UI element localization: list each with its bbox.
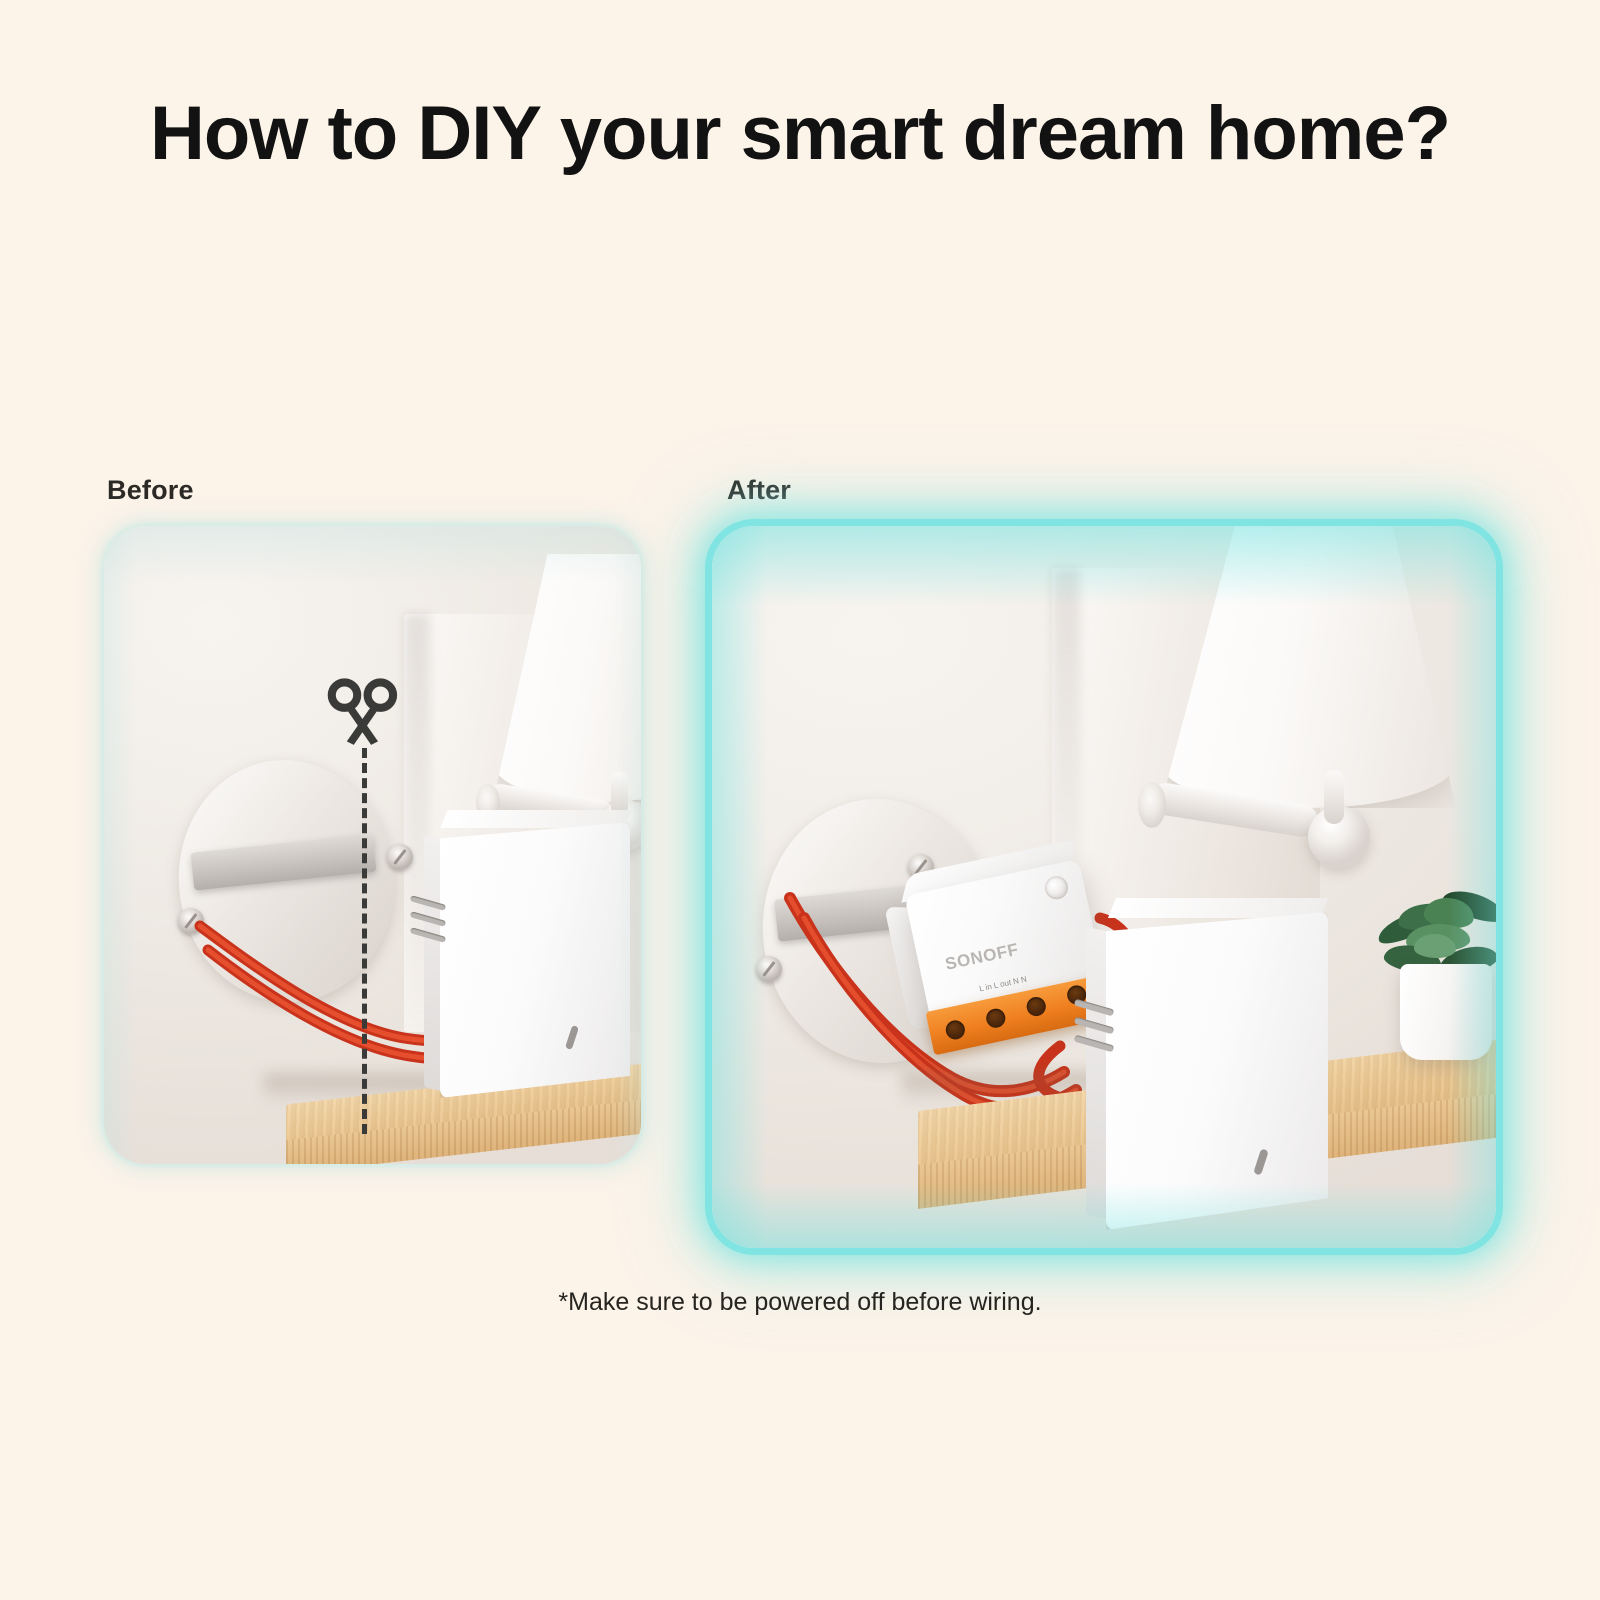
lamp-wall-mount: [1138, 782, 1166, 828]
switch-vent-group: [410, 900, 450, 954]
scissors-icon: [326, 672, 400, 746]
wall-box-screw-top: [387, 844, 413, 870]
terminal-hole: [1025, 995, 1048, 1018]
after-scene: SONOFF L in L out N N: [712, 526, 1496, 1248]
page-title: How to DIY your smart dream home?: [0, 96, 1600, 172]
switch-plate-face[interactable]: [440, 822, 630, 1098]
switch-vent-group: [1074, 1004, 1118, 1062]
footnote-warning: *Make sure to be powered off before wiri…: [0, 1288, 1600, 1317]
wall-box-screw-bottom: [756, 956, 782, 982]
cut-dashed-line: [362, 748, 367, 1134]
before-panel-image: [104, 526, 641, 1164]
switch-plate-face[interactable]: [1106, 912, 1328, 1230]
terminal-hole: [944, 1019, 967, 1042]
plant-pot: [1400, 964, 1492, 1060]
before-scene: [104, 526, 641, 1164]
switch-vent-slot: [410, 927, 446, 943]
after-panel-image: SONOFF L in L out N N: [712, 526, 1496, 1248]
switch-vent-slot: [1074, 1035, 1114, 1053]
terminal-hole: [985, 1007, 1008, 1030]
wall-switch-plate[interactable]: [440, 822, 630, 1098]
after-panel-label: After: [727, 475, 791, 506]
switch-vent-slot: [410, 911, 446, 927]
before-panel-label: Before: [107, 475, 194, 506]
lamp-stem: [1324, 770, 1344, 824]
wall-box-screw-bottom: [178, 908, 204, 934]
wall-switch-plate[interactable]: [1106, 912, 1328, 1230]
switch-vent-slot: [1074, 1017, 1114, 1035]
succulent-plant: [1372, 868, 1496, 1068]
